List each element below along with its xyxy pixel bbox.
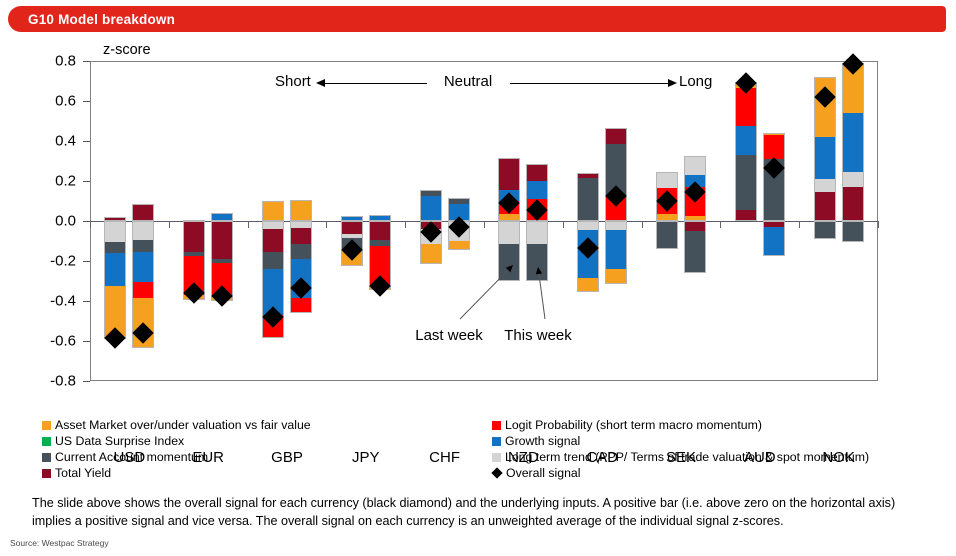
legend-right-item[interactable]: Logit Probability (short term macro mome… bbox=[492, 418, 762, 432]
y-axis-tick bbox=[83, 381, 90, 382]
bar-segment bbox=[814, 221, 836, 239]
annotation-arrow-right-line bbox=[510, 83, 673, 84]
bar-segment bbox=[735, 126, 757, 155]
stacked-bar[interactable] bbox=[369, 61, 391, 381]
title-banner: G10 Model breakdown bbox=[8, 6, 946, 32]
y-axis-tick bbox=[83, 101, 90, 102]
bar-segment bbox=[842, 187, 864, 221]
bar-segment bbox=[369, 221, 391, 240]
bar-segment bbox=[684, 221, 706, 231]
legend-left-item[interactable]: Total Yield bbox=[42, 466, 111, 480]
stacked-bar[interactable] bbox=[341, 61, 363, 381]
bar-segment bbox=[211, 221, 233, 259]
x-axis-tick bbox=[484, 221, 485, 228]
bar-segment bbox=[420, 196, 442, 221]
legend-label: Logit Probability (short term macro mome… bbox=[505, 418, 762, 432]
bar-segment bbox=[842, 221, 864, 242]
stacked-bar[interactable] bbox=[656, 61, 678, 381]
bar-segment bbox=[526, 221, 548, 244]
bar-segment bbox=[526, 244, 548, 281]
y-axis-tick-label: -0.6 bbox=[32, 333, 76, 350]
legend-label: Asset Market over/under valuation vs fai… bbox=[55, 418, 311, 432]
stacked-bar[interactable] bbox=[290, 61, 312, 381]
bar-segment bbox=[290, 221, 312, 228]
legend-swatch-icon bbox=[42, 421, 51, 430]
y-axis-tick bbox=[83, 61, 90, 62]
bar-segment bbox=[262, 229, 284, 252]
x-axis-tick bbox=[248, 221, 249, 228]
x-axis-tick bbox=[563, 221, 564, 228]
y-axis-tick-label: -0.2 bbox=[32, 253, 76, 270]
page-title: G10 Model breakdown bbox=[8, 12, 175, 27]
x-axis-tick bbox=[326, 221, 327, 228]
legend: Asset Market over/under valuation vs fai… bbox=[0, 418, 956, 484]
legend-label: Total Yield bbox=[55, 466, 111, 480]
bar-segment bbox=[420, 190, 442, 196]
annotation-neutral: Neutral bbox=[444, 73, 492, 90]
bar-segment bbox=[763, 133, 785, 135]
bar-segment bbox=[132, 252, 154, 282]
y-axis-tick bbox=[83, 341, 90, 342]
plot-area: 0.80.60.40.20.0-0.2-0.4-0.6-0.8 USDEURGB… bbox=[90, 61, 878, 381]
bar-segment bbox=[132, 204, 154, 221]
x-axis-tick bbox=[642, 221, 643, 228]
bar-segment bbox=[420, 244, 442, 264]
bar-segment bbox=[814, 137, 836, 179]
bar-segment bbox=[262, 201, 284, 221]
bar-segment bbox=[290, 200, 312, 221]
legend-right-item[interactable]: Long term trend (PPP/ Terms of trade val… bbox=[492, 450, 869, 464]
bar-segment bbox=[104, 242, 126, 253]
y-axis-tick-label: 0.4 bbox=[32, 133, 76, 150]
legend-swatch-icon bbox=[492, 437, 501, 446]
bar-segment bbox=[605, 230, 627, 269]
legend-swatch-icon bbox=[492, 421, 501, 430]
bar-segment bbox=[842, 172, 864, 187]
legend-right-item[interactable]: Overall signal bbox=[492, 466, 581, 480]
stacked-bar[interactable] bbox=[605, 61, 627, 381]
bar-segment bbox=[656, 172, 678, 188]
bar-segment bbox=[814, 179, 836, 192]
caption-text: The slide above shows the overall signal… bbox=[32, 494, 932, 530]
bar-segment bbox=[577, 178, 599, 221]
y-axis-tick bbox=[83, 261, 90, 262]
bar-segment bbox=[132, 240, 154, 252]
y-axis-tick-label: 0.6 bbox=[32, 93, 76, 110]
x-axis-tick bbox=[90, 221, 91, 228]
bar-segment bbox=[290, 228, 312, 244]
legend-label: Overall signal bbox=[506, 466, 581, 480]
y-axis-tick-label: 0.8 bbox=[32, 53, 76, 70]
stacked-bar[interactable] bbox=[763, 61, 785, 381]
bar-segment bbox=[498, 158, 520, 190]
bar-segment bbox=[656, 214, 678, 221]
stacked-bar[interactable] bbox=[842, 61, 864, 381]
annotation-this-week: This week bbox=[504, 327, 572, 344]
bar-segment bbox=[498, 214, 520, 221]
y-axis-tick-label: 0.0 bbox=[32, 213, 76, 230]
y-axis-tick bbox=[83, 181, 90, 182]
legend-label: Growth signal bbox=[505, 434, 580, 448]
arrow-head-left-icon bbox=[316, 78, 326, 88]
legend-label: Current Account momentum bbox=[55, 450, 208, 464]
bar-segment bbox=[448, 198, 470, 204]
arrow-head-right-icon bbox=[667, 78, 677, 88]
annotation-arrow-left-line bbox=[318, 83, 427, 84]
legend-label: US Data Surprise Index bbox=[55, 434, 184, 448]
bar-segment bbox=[605, 221, 627, 230]
stacked-bar[interactable] bbox=[814, 61, 836, 381]
bar-segment bbox=[577, 173, 599, 178]
legend-left-item[interactable]: Current Account momentum bbox=[42, 450, 208, 464]
bar-segment bbox=[290, 244, 312, 259]
y-axis-title: z-score bbox=[103, 42, 151, 58]
bar-segment bbox=[684, 156, 706, 175]
y-axis-tick bbox=[83, 141, 90, 142]
bar-segment bbox=[183, 221, 205, 252]
bar-segment bbox=[605, 269, 627, 284]
stacked-bar[interactable] bbox=[735, 61, 757, 381]
legend-label: Long term trend (PPP/ Terms of trade val… bbox=[505, 450, 869, 464]
stacked-bar[interactable] bbox=[211, 61, 233, 381]
legend-diamond-icon bbox=[491, 467, 502, 478]
chart-page: G10 Model breakdown z-score 0.80.60.40.2… bbox=[0, 0, 956, 556]
legend-left-item[interactable]: US Data Surprise Index bbox=[42, 434, 184, 448]
legend-left-item[interactable]: Asset Market over/under valuation vs fai… bbox=[42, 418, 311, 432]
bar-segment bbox=[211, 213, 233, 221]
bar-segment bbox=[842, 113, 864, 172]
x-axis-tick bbox=[169, 221, 170, 228]
x-axis-tick bbox=[405, 221, 406, 228]
legend-right-item[interactable]: Growth signal bbox=[492, 434, 580, 448]
y-axis-tick-label: -0.8 bbox=[32, 373, 76, 390]
bar-segment bbox=[498, 244, 520, 281]
x-axis-tick bbox=[720, 221, 721, 228]
legend-swatch-icon bbox=[42, 437, 51, 446]
y-axis-tick-label: 0.2 bbox=[32, 173, 76, 190]
bar-segment bbox=[605, 128, 627, 144]
bar-segment bbox=[498, 221, 520, 244]
x-axis-tick bbox=[799, 221, 800, 228]
legend-swatch-icon bbox=[492, 453, 501, 462]
bar-segment bbox=[132, 221, 154, 240]
source-note: Source: Westpac Strategy bbox=[10, 538, 109, 548]
bar-segment bbox=[656, 221, 678, 249]
bar-segment bbox=[814, 192, 836, 221]
annotation-short: Short bbox=[275, 73, 311, 90]
stacked-bar[interactable] bbox=[684, 61, 706, 381]
bar-segment bbox=[448, 241, 470, 250]
bar-segment bbox=[526, 181, 548, 199]
bar-segment bbox=[262, 221, 284, 229]
legend-swatch-icon bbox=[42, 453, 51, 462]
stacked-bar[interactable] bbox=[262, 61, 284, 381]
y-axis-tick bbox=[83, 301, 90, 302]
bar-segment bbox=[262, 252, 284, 269]
stacked-bar[interactable] bbox=[183, 61, 205, 381]
x-axis-tick bbox=[878, 221, 879, 228]
bar-segment bbox=[763, 135, 785, 159]
y-axis-tick-label: -0.4 bbox=[32, 293, 76, 310]
annotation-last-week: Last week bbox=[415, 327, 483, 344]
bar-segment bbox=[104, 253, 126, 286]
stacked-bar[interactable] bbox=[577, 61, 599, 381]
bar-segment bbox=[526, 164, 548, 181]
bar-segment bbox=[684, 231, 706, 273]
bar-segment bbox=[341, 221, 363, 234]
bar-segment bbox=[104, 221, 126, 242]
bar-segment bbox=[290, 298, 312, 313]
legend-swatch-icon bbox=[42, 469, 51, 478]
bar-segment bbox=[763, 227, 785, 256]
y-axis-tick bbox=[83, 221, 90, 222]
bar-segment bbox=[132, 282, 154, 298]
bar-segment bbox=[735, 210, 757, 221]
bar-segment bbox=[577, 221, 599, 230]
bar-segment bbox=[577, 278, 599, 292]
bar-segment bbox=[735, 155, 757, 210]
annotation-long: Long bbox=[679, 73, 712, 90]
